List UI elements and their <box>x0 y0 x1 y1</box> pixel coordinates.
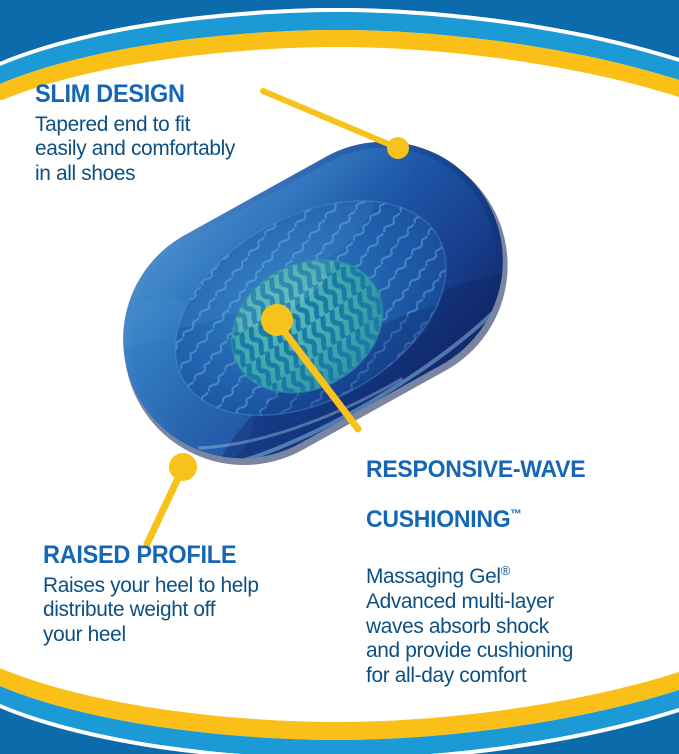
wave-pad-texture <box>201 228 412 425</box>
callout-responsive-wave-title: RESPONSIVE-WAVE CUSHIONING™ <box>366 432 648 532</box>
leader-line-responsive-wave <box>280 326 358 429</box>
gel-well-top-sheen <box>126 159 392 355</box>
top-banner-mid-band <box>0 12 679 84</box>
gel-well-base <box>138 157 483 459</box>
leader-line-raised-profile <box>147 474 180 544</box>
registered-symbol: ® <box>501 563 511 578</box>
callout-raised-profile-body: Raises your heel to help distribute weig… <box>43 573 315 647</box>
callout-responsive-wave-title-line-2: CUSHIONING <box>366 506 510 533</box>
gel-left-highlight <box>91 274 283 490</box>
callout-raised-profile: RAISED PROFILE Raises your heel to help … <box>43 543 323 647</box>
callout-responsive-wave-body: Massaging Gel®Advanced multi-layer waves… <box>366 538 657 688</box>
massaging-gel-label: Massaging Gel <box>366 564 501 588</box>
massaging-wave-pad <box>196 221 413 426</box>
callout-raised-profile-title: RAISED PROFILE <box>43 543 306 569</box>
product-infographic: SLIM DESIGN Tapered end to fit easily an… <box>0 0 679 754</box>
callout-responsive-wave-title-line-1: RESPONSIVE-WAVE <box>366 456 585 483</box>
callout-responsive-wave-cushioning: RESPONSIVE-WAVE CUSHIONING™ Massaging Ge… <box>366 432 666 688</box>
callout-dot-raised-profile <box>169 453 197 481</box>
top-banner-white-line <box>0 8 679 66</box>
wave-pad-outline <box>208 234 406 419</box>
callout-slim-design-title: SLIM DESIGN <box>35 82 284 108</box>
gel-gloss-highlight <box>0 15 476 404</box>
callout-slim-design-body: Tapered end to fit easily and comfortabl… <box>35 112 292 186</box>
trademark-symbol: ™ <box>510 507 522 521</box>
callout-responsive-wave-body-rest: Advanced multi-layer waves absorb shock … <box>366 589 573 687</box>
wave-pad-sheen <box>196 235 344 348</box>
callout-dot-responsive-wave <box>261 304 293 336</box>
top-banner-dark-band <box>0 0 679 62</box>
gel-well-outline <box>138 157 483 459</box>
callout-slim-design: SLIM DESIGN Tapered end to fit easily an… <box>35 82 300 186</box>
callout-dot-slim-design <box>387 137 409 159</box>
bottom-banner-dark-band <box>0 708 679 754</box>
bottom-banner-white-line <box>0 704 679 754</box>
gel-well-ripple-texture <box>133 151 488 464</box>
wave-pad-base <box>208 234 406 419</box>
bottom-banner-mid-band <box>0 686 679 754</box>
